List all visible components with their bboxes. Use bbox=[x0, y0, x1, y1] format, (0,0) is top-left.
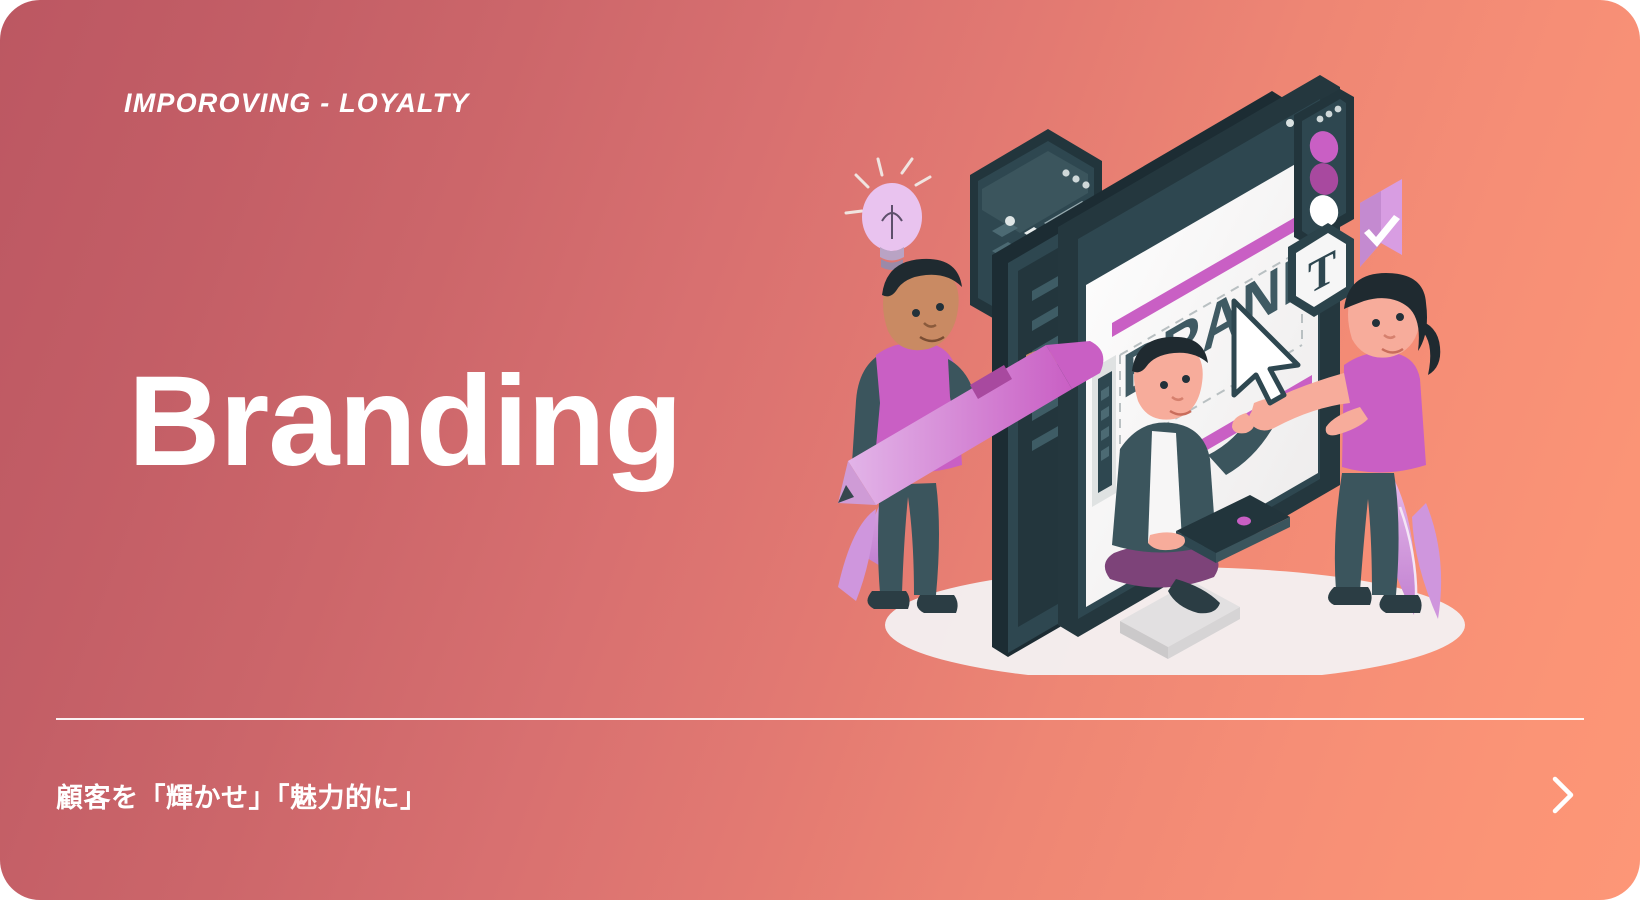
footer-divider bbox=[56, 718, 1584, 720]
bookmark-check-icon bbox=[1360, 179, 1402, 267]
lightbulb-icon bbox=[846, 159, 930, 270]
chevron-right-icon[interactable] bbox=[1540, 773, 1584, 817]
footer-caption: 顧客を「輝かせ」「魅力的に」 bbox=[56, 776, 428, 815]
hero-card: IMPOROVING - LOYALTY Branding bbox=[0, 0, 1640, 900]
eyebrow-label: IMPOROVING - LOYALTY bbox=[124, 88, 470, 119]
footer-bar: 顧客を「輝かせ」「魅力的に」 bbox=[56, 750, 1584, 840]
page-title: Branding bbox=[128, 355, 682, 489]
color-palette-graphic bbox=[1294, 89, 1354, 245]
branding-illustration: BRAND bbox=[820, 55, 1500, 675]
